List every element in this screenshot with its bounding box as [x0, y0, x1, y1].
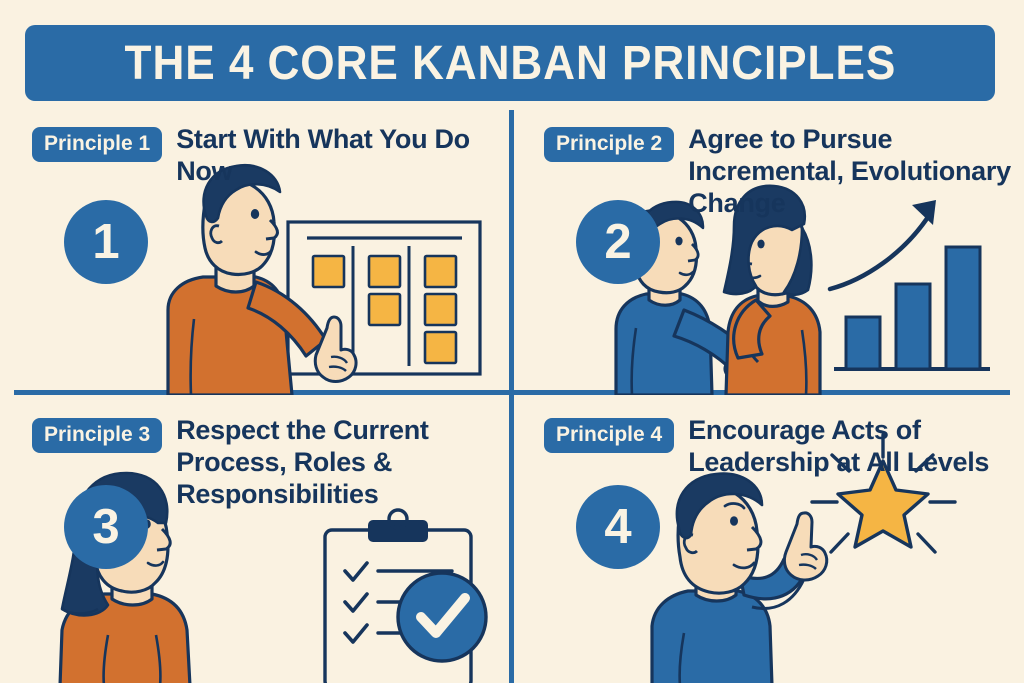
- principle-1-badge: Principle 1: [32, 127, 162, 162]
- principle-3-number: 3: [64, 485, 148, 569]
- principle-1-number: 1: [64, 200, 148, 284]
- principle-2-badge: Principle 2: [544, 127, 674, 162]
- title-bar: THE 4 CORE KANBAN PRINCIPLES: [25, 25, 995, 101]
- principle-card-1: Principle 1 Start With What You Do Now 1: [0, 104, 512, 395]
- principle-4-badge: Principle 4: [544, 418, 674, 453]
- principle-card-2: Principle 2 Agree to Pursue Incremental,…: [512, 104, 1024, 395]
- principle-3-heading: Respect the Current Process, Roles & Res…: [176, 415, 502, 511]
- principle-card-4: Principle 4 Encourage Acts of Leadership…: [512, 395, 1024, 683]
- principle-3-badge: Principle 3: [32, 418, 162, 453]
- principle-4-header: Principle 4 Encourage Acts of Leadership…: [544, 415, 1014, 479]
- principle-1-heading: Start With What You Do Now: [176, 124, 502, 188]
- principle-4-heading: Encourage Acts of Leadership at All Leve…: [688, 415, 1014, 479]
- principle-1-header: Principle 1 Start With What You Do Now: [32, 124, 502, 188]
- principle-card-3: Principle 3 Respect the Current Process,…: [0, 395, 512, 683]
- principle-2-heading: Agree to Pursue Incremental, Evolutionar…: [688, 124, 1014, 220]
- principle-4-number: 4: [576, 485, 660, 569]
- principle-2-number: 2: [576, 200, 660, 284]
- page-title: THE 4 CORE KANBAN PRINCIPLES: [124, 36, 896, 91]
